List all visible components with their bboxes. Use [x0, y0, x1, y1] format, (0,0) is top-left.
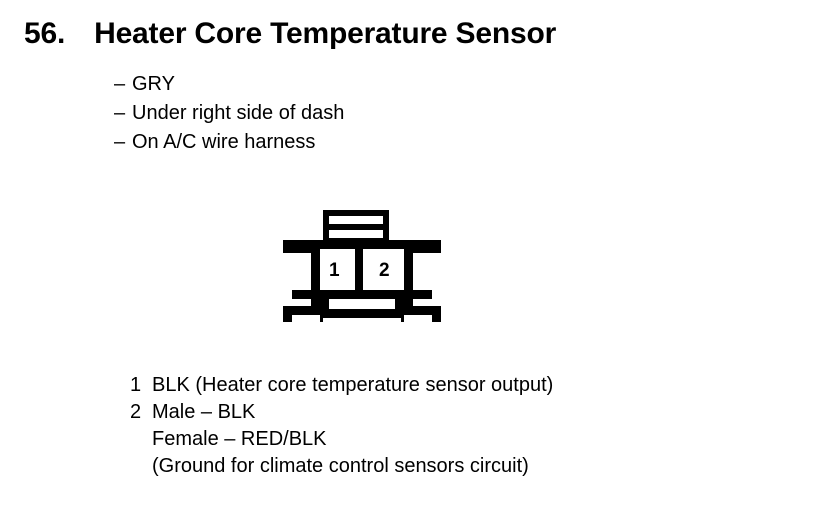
locking-tab-icon [323, 210, 389, 244]
legend-pin-description: BLK (Heater core temperature sensor outp… [152, 372, 553, 399]
entry-title: Heater Core Temperature Sensor [94, 17, 556, 51]
list-item: 2 Male – BLK [130, 399, 553, 426]
list-item: – GRY [114, 70, 344, 99]
attribute-text: Under right side of dash [132, 99, 344, 128]
legend-pin-spacer [130, 426, 152, 453]
legend-pin-spacer [130, 453, 152, 480]
legend-pin-description: (Ground for climate control sensors circ… [152, 453, 529, 480]
list-item: 1 BLK (Heater core temperature sensor ou… [130, 372, 553, 399]
legend-pin-description: Male – BLK [152, 399, 255, 426]
attribute-text: GRY [132, 70, 175, 99]
cavity-number-1: 1 [329, 260, 340, 281]
dash-bullet-icon: – [114, 128, 132, 157]
entry-number: 56. [24, 17, 65, 51]
attribute-list: – GRY – Under right side of dash – On A/… [114, 70, 344, 157]
page-title: 56. Heater Core Temperature Sensor [24, 17, 556, 51]
legend-pin-number: 1 [130, 372, 152, 399]
pin-legend: 1 BLK (Heater core temperature sensor ou… [130, 372, 553, 480]
connector-outline-svg: 1 2 [283, 210, 441, 322]
connector-diagram: 1 2 [283, 210, 441, 322]
attribute-text: On A/C wire harness [132, 128, 315, 157]
list-item: – On A/C wire harness [114, 128, 344, 157]
cavity-number-2: 2 [379, 260, 390, 281]
connector-cavities [283, 240, 441, 322]
legend-pin-description: Female – RED/BLK [152, 426, 327, 453]
list-item: (Ground for climate control sensors circ… [130, 453, 553, 480]
dash-bullet-icon: – [114, 70, 132, 99]
list-item: – Under right side of dash [114, 99, 344, 128]
dash-bullet-icon: – [114, 99, 132, 128]
list-item: Female – RED/BLK [130, 426, 553, 453]
legend-pin-number: 2 [130, 399, 152, 426]
